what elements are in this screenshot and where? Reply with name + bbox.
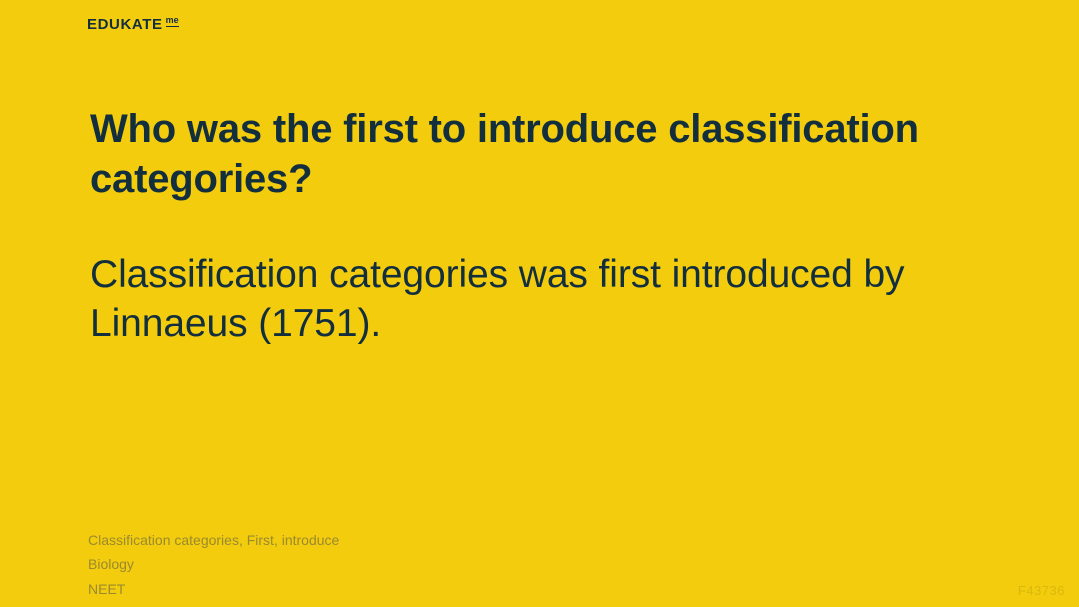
footer-exam: NEET bbox=[88, 577, 339, 602]
brand-logo-superscript: me bbox=[166, 16, 179, 27]
slide-canvas: EDUKATE me Who was the first to introduc… bbox=[0, 0, 1079, 607]
footer-keywords: Classification categories, First, introd… bbox=[88, 528, 339, 553]
answer-text: Classification categories was first intr… bbox=[90, 250, 1020, 348]
footer-metadata: Classification categories, First, introd… bbox=[88, 528, 339, 602]
footer-subject: Biology bbox=[88, 552, 339, 577]
brand-logo-word: EDUKATE bbox=[87, 17, 163, 32]
question-headline: Who was the first to introduce classific… bbox=[90, 104, 1010, 204]
brand-logo[interactable]: EDUKATE me bbox=[87, 17, 179, 32]
watermark-code: F43736 bbox=[1018, 583, 1065, 598]
